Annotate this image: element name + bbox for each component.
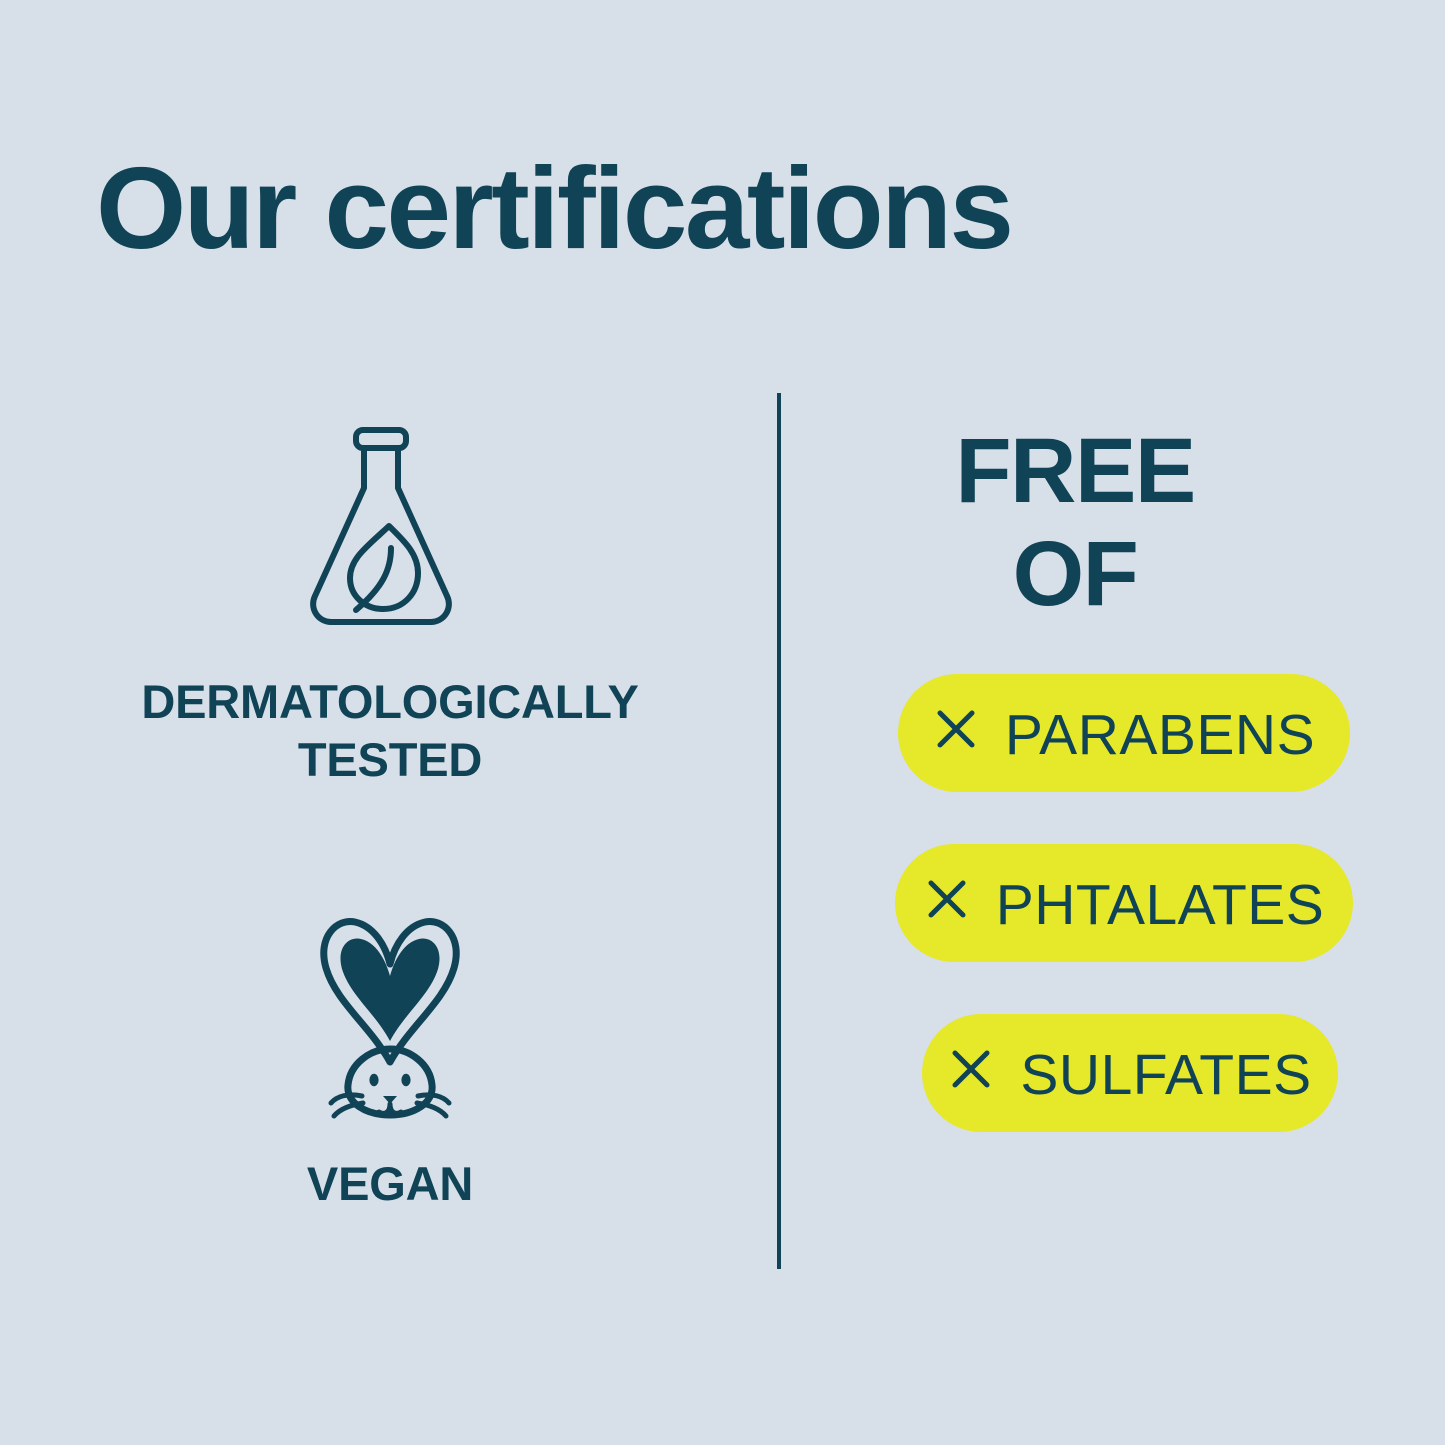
x-mark-icon xyxy=(933,700,979,766)
free-of-item-parabens[interactable]: PARABENS xyxy=(898,674,1350,792)
certifications-panel: Our certifications DERMATOLOGICALLY xyxy=(0,0,1445,1445)
certifications-column: DERMATOLOGICALLY TESTED xyxy=(40,400,740,1260)
certification-label-line1: VEGAN xyxy=(307,1157,473,1210)
certification-label-line1: DERMATOLOGICALLY xyxy=(141,675,638,728)
free-of-heading-line1: FREE xyxy=(820,420,1330,523)
free-of-column: FREE OF PARABENS PHTALATES xyxy=(820,420,1420,1132)
column-divider xyxy=(777,393,781,1269)
free-of-heading-line2: OF xyxy=(820,523,1330,626)
free-of-item-label: PHTALATES xyxy=(996,877,1325,934)
certification-item-dermatologically-tested: DERMATOLOGICALLY TESTED xyxy=(40,420,740,790)
flask-leaf-icon xyxy=(40,420,740,635)
certification-label: DERMATOLOGICALLY TESTED xyxy=(40,673,740,790)
free-of-item-label: PARABENS xyxy=(1005,707,1315,764)
free-of-item-label: SULFATES xyxy=(1020,1047,1311,1104)
free-of-heading: FREE OF xyxy=(820,420,1330,626)
certification-label: VEGAN xyxy=(40,1155,740,1213)
certification-item-vegan: VEGAN xyxy=(40,910,740,1213)
page-title: Our certifications xyxy=(96,150,1216,266)
bunny-heart-ears-icon xyxy=(40,910,740,1125)
free-of-item-sulfates[interactable]: SULFATES xyxy=(922,1014,1338,1132)
free-of-item-phtalates[interactable]: PHTALATES xyxy=(895,844,1353,962)
x-mark-icon xyxy=(924,870,970,936)
x-mark-icon xyxy=(948,1040,994,1106)
free-of-list: PARABENS PHTALATES SULFATES xyxy=(820,674,1420,1132)
certification-label-line2: TESTED xyxy=(298,733,482,786)
